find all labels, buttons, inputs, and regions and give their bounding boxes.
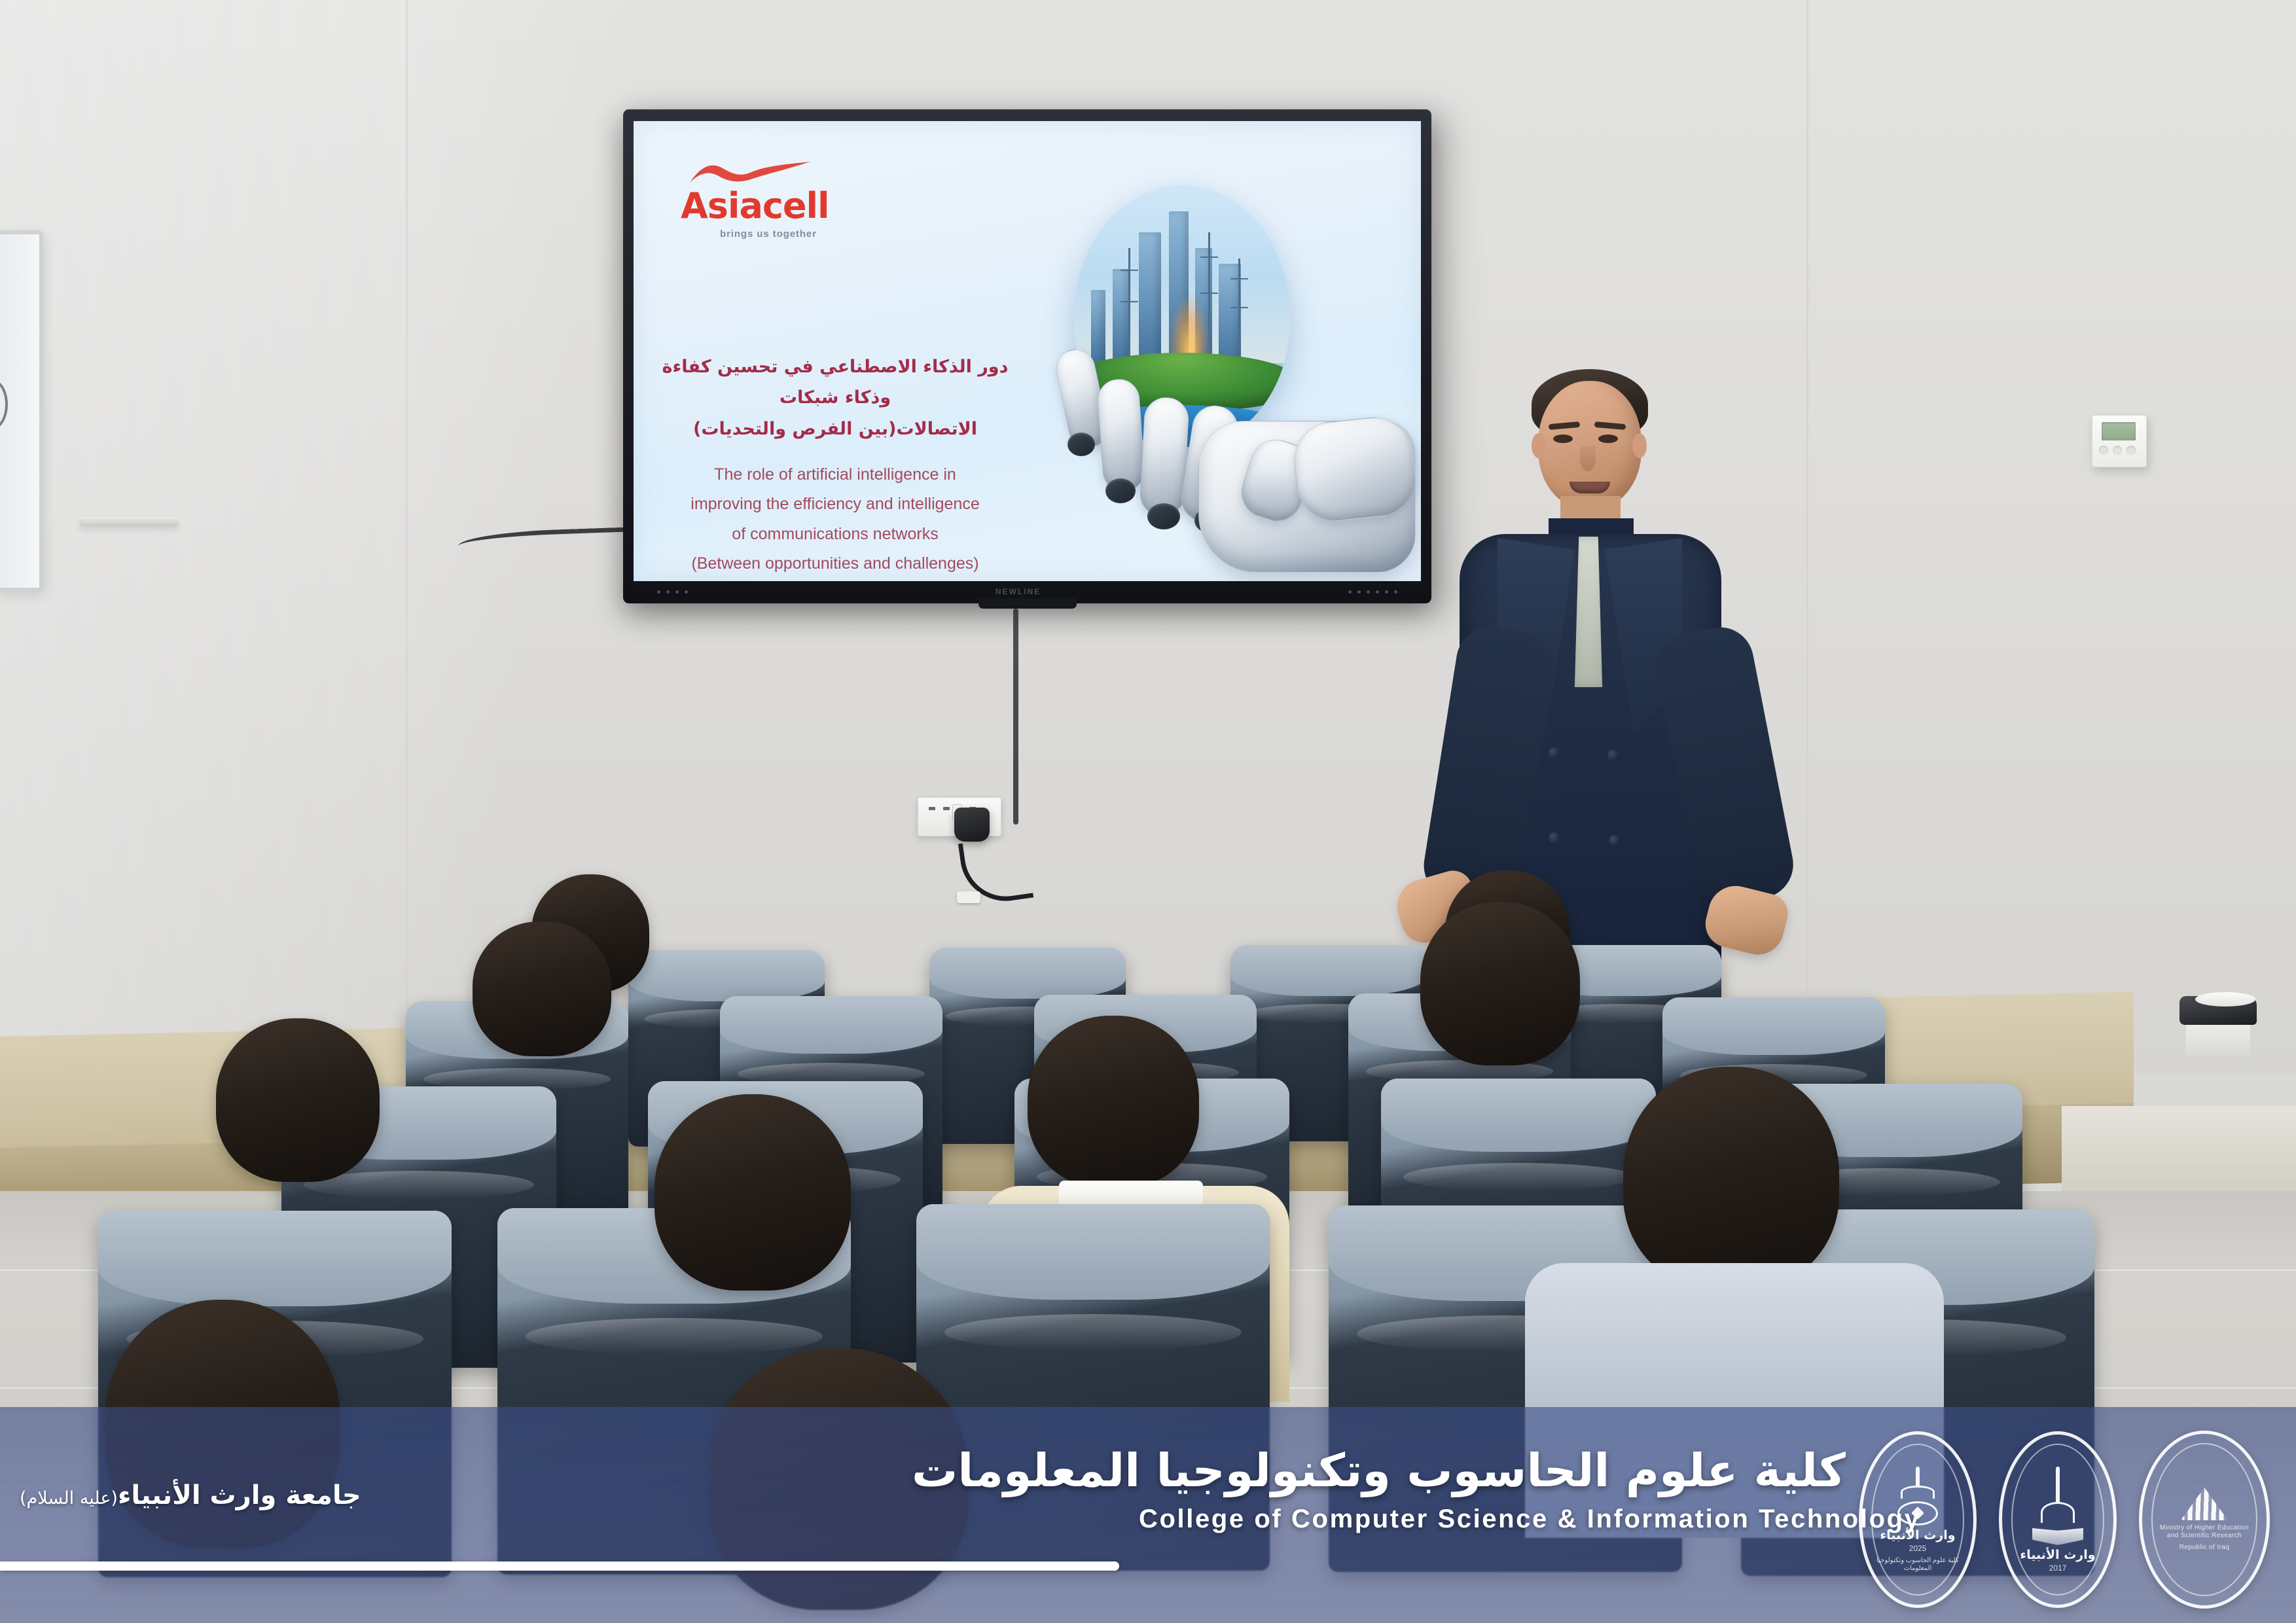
wall-panel-left bbox=[0, 0, 406, 1073]
logo-2-year: 2017 bbox=[2049, 1563, 2067, 1573]
whiteboard-marking bbox=[0, 380, 8, 429]
wall-shelf bbox=[80, 517, 178, 526]
lecture-hall-photo: Asiacell brings us together دور الذكاء ا… bbox=[0, 0, 2296, 1623]
college-name-arabic: كلية علوم الحاسوب وتكنولوجيا المعلومات bbox=[1139, 1444, 1846, 1498]
presenter-ear-left bbox=[1532, 433, 1546, 458]
attendee-head bbox=[216, 1018, 380, 1182]
logo-1-arabic: وارث الأنبياء bbox=[1880, 1528, 1955, 1543]
logo-1-year: 2025 bbox=[1909, 1544, 1927, 1553]
bezel-control-dots-left[interactable] bbox=[657, 590, 688, 594]
bezel-control-dots-right[interactable] bbox=[1348, 590, 1397, 594]
jacket-button-1 bbox=[1549, 747, 1560, 758]
cable-connector bbox=[957, 891, 980, 903]
thermostat-buttons[interactable] bbox=[2099, 446, 2136, 455]
wall-thermostat[interactable] bbox=[2092, 415, 2147, 467]
university-warith-al-anbiya-logo-1: وارث الأنبياء 2025 كلية علوم الحاسوب وتك… bbox=[1859, 1431, 1977, 1608]
power-plug[interactable] bbox=[954, 808, 990, 842]
jacket-button-4 bbox=[1609, 835, 1620, 846]
asiacell-tagline: brings us together bbox=[720, 228, 857, 240]
university-name-arabic: جامعة وارث الأنبياء(عليه السلام) bbox=[20, 1480, 361, 1510]
thermostat-lcd-screen bbox=[2102, 422, 2136, 440]
logo-2-arabic: وارث الأنبياء bbox=[2020, 1548, 2095, 1562]
college-name-english: College of Computer Science & Informatio… bbox=[1139, 1505, 1846, 1534]
wall-seam-b bbox=[1806, 0, 1808, 1073]
display-cable-drop bbox=[1013, 609, 1018, 825]
ministry-higher-education-iraq-logo: Ministry of Higher Education and Scienti… bbox=[2139, 1431, 2270, 1609]
presenter-eye-right bbox=[1598, 435, 1618, 443]
attendee-head bbox=[1028, 1016, 1199, 1187]
ministry-logo-country: Republic of Iraq bbox=[2179, 1544, 2229, 1552]
asiacell-swoosh-icon bbox=[681, 159, 857, 189]
slide-title-block: دور الذكاء الاصطناعي في تحسين كفاءة وذكا… bbox=[652, 351, 1018, 579]
jacket-button-2 bbox=[1607, 750, 1619, 761]
college-name-block: كلية علوم الحاسوب وتكنولوجيا المعلومات C… bbox=[1139, 1444, 1846, 1534]
display-bottom-notch bbox=[978, 598, 1077, 609]
interactive-flat-panel-display[interactable]: Asiacell brings us together دور الذكاء ا… bbox=[623, 109, 1431, 603]
attendee-head bbox=[473, 921, 611, 1056]
branding-banner: جامعة وارث الأنبياء(عليه السلام) كلية عل… bbox=[0, 1407, 2296, 1623]
presenter-ear-right bbox=[1632, 433, 1647, 458]
display-brand-label: NEWLINE bbox=[996, 587, 1041, 596]
banner-logo-group: وارث الأنبياء 2025 كلية علوم الحاسوب وتك… bbox=[1859, 1431, 2270, 1609]
presentation-screen: Asiacell brings us together دور الذكاء ا… bbox=[634, 121, 1421, 581]
jacket-button-3 bbox=[1549, 832, 1560, 844]
attendee-head bbox=[655, 1094, 851, 1291]
logo-1-subtitle: كلية علوم الحاسوب وتكنولوجيا المعلومات bbox=[1876, 1557, 1959, 1573]
attendee-head bbox=[1420, 902, 1580, 1065]
wall-seam-a bbox=[406, 0, 408, 1073]
attendee-head bbox=[1623, 1067, 1839, 1289]
banner-divider-rule bbox=[0, 1561, 1119, 1571]
asiacell-logo: Asiacell brings us together bbox=[681, 159, 857, 240]
university-warith-al-anbiya-logo-2: وارث الأنبياء 2017 bbox=[1999, 1431, 2117, 1608]
slide-illustration bbox=[976, 146, 1421, 581]
presenter-mouth bbox=[1570, 482, 1610, 493]
ministry-logo-ring-text: Ministry of Higher Education and Scienti… bbox=[2159, 1524, 2251, 1540]
presentation-slide: Asiacell brings us together دور الذكاء ا… bbox=[634, 121, 1421, 581]
robot-hand-icon bbox=[1002, 342, 1421, 581]
asiacell-wordmark: Asiacell bbox=[681, 189, 857, 223]
stage-step bbox=[2062, 1106, 2296, 1204]
whiteboard bbox=[0, 230, 43, 592]
presenter-nose bbox=[1580, 446, 1596, 471]
slide-title-english: The role of artificial intelligence in i… bbox=[652, 460, 1018, 579]
waste-bin bbox=[2179, 996, 2257, 1056]
presenter-eye-left bbox=[1553, 435, 1573, 443]
slide-title-arabic: دور الذكاء الاصطناعي في تحسين كفاءة وذكا… bbox=[652, 351, 1018, 444]
